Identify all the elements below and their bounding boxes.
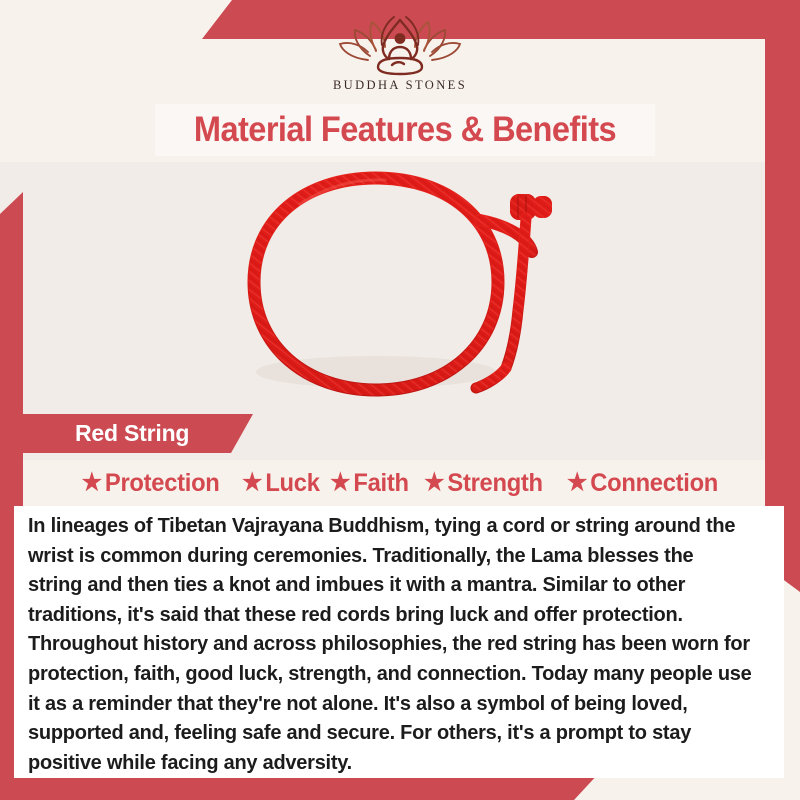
star-icon: ★ bbox=[567, 471, 587, 495]
description-line: supported and, feeling safe and secure. … bbox=[28, 719, 751, 749]
description-line: string and then ties a knot and imbues i… bbox=[28, 571, 751, 601]
lotus-meditation-figure-icon bbox=[334, 14, 466, 76]
benefit-label: Luck bbox=[265, 469, 319, 498]
benefit-label: Faith bbox=[353, 469, 408, 498]
benefit-label: Strength bbox=[448, 469, 543, 498]
star-icon: ★ bbox=[330, 471, 350, 495]
material-label-banner: Red String bbox=[23, 414, 253, 453]
description-line: Throughout history and across philosophi… bbox=[28, 630, 751, 660]
page-title: Material Features & Benefits bbox=[194, 110, 616, 150]
product-photo bbox=[180, 160, 620, 422]
benefit-item-luck: ★ Luck bbox=[242, 469, 320, 498]
infographic-page: BUDDHA STONES Material Features & Benefi… bbox=[0, 0, 800, 800]
description-line: In lineages of Tibetan Vajrayana Buddhis… bbox=[28, 512, 751, 542]
benefits-list: ★ Protection ★ Luck ★ Faith ★ Strength ★… bbox=[23, 462, 777, 504]
star-icon: ★ bbox=[242, 471, 262, 495]
description-line: traditions, it's said that these red cor… bbox=[28, 601, 751, 631]
star-icon: ★ bbox=[81, 471, 101, 495]
description-line: wrist is common during ceremonies. Tradi… bbox=[28, 542, 751, 572]
benefit-item-strength: ★ Strength bbox=[424, 469, 543, 498]
star-icon: ★ bbox=[424, 471, 444, 495]
benefit-item-connection: ★ Connection bbox=[567, 469, 718, 498]
headline-band: Material Features & Benefits bbox=[155, 104, 655, 156]
brand-name: BUDDHA STONES bbox=[333, 78, 467, 93]
material-label-text: Red String bbox=[75, 420, 189, 447]
description-panel: In lineages of Tibetan Vajrayana Buddhis… bbox=[14, 506, 784, 778]
red-braided-string-bracelet-image bbox=[180, 160, 620, 422]
description-line: positive while facing any adversity. bbox=[28, 749, 751, 779]
benefit-label: Connection bbox=[590, 469, 718, 498]
description-line: protection, faith, good luck, strength, … bbox=[28, 660, 751, 690]
benefit-item-protection: ★ Protection bbox=[81, 469, 219, 498]
benefit-item-faith: ★ Faith bbox=[330, 469, 409, 498]
benefit-label: Protection bbox=[105, 469, 220, 498]
brand-logo: BUDDHA STONES bbox=[0, 14, 800, 100]
description-line: it as a reminder that they're not alone.… bbox=[28, 690, 751, 720]
